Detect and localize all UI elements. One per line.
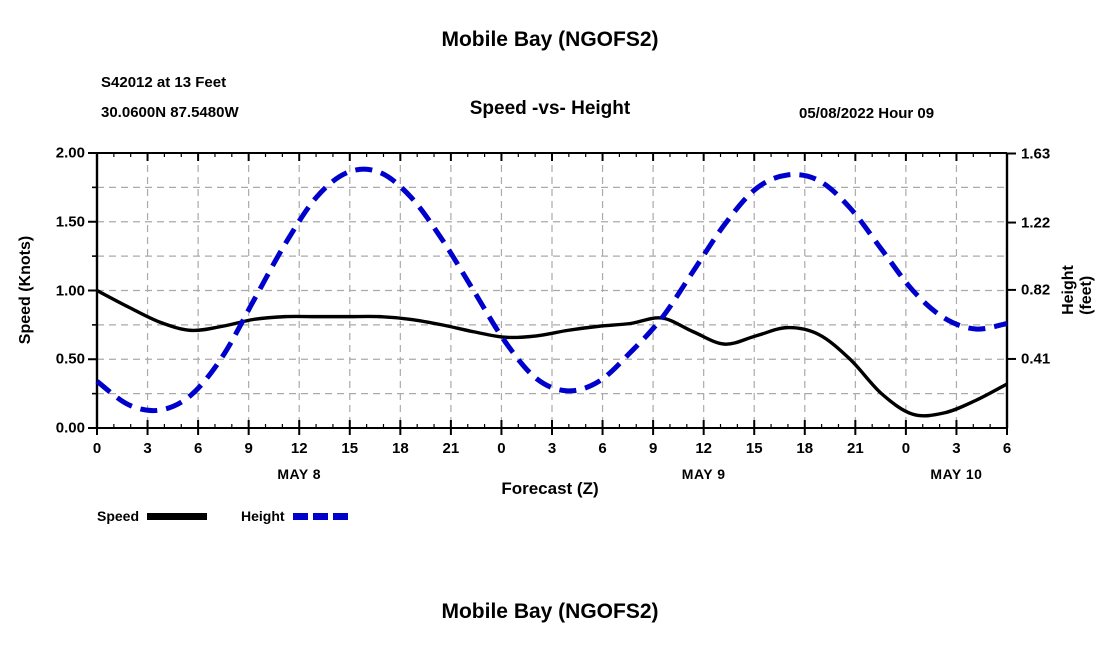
x-axis-tick-3: 9 (244, 440, 252, 457)
x-axis-tick-7: 21 (443, 440, 460, 457)
legend-swatch-height-icon (293, 513, 353, 520)
x-axis-tick-5: 15 (341, 440, 358, 457)
x-axis-tick-16: 0 (902, 440, 910, 457)
x-axis-tick-9: 3 (548, 440, 556, 457)
y-axis-left-tick-0.00: 0.00 (41, 420, 85, 437)
legend-label-height: Height (241, 508, 285, 524)
x-axis-title: Forecast (Z) (0, 479, 1100, 499)
y-axis-right-tick-0.82: 0.82 (1021, 281, 1050, 298)
x-axis-tick-0: 0 (93, 440, 101, 457)
x-axis-tick-12: 12 (695, 440, 712, 457)
x-axis-tick-8: 0 (497, 440, 505, 457)
x-axis-tick-10: 6 (598, 440, 606, 457)
x-axis-tick-17: 3 (952, 440, 960, 457)
chart-legend: Speed Height (97, 508, 353, 524)
x-axis-tick-6: 18 (392, 440, 409, 457)
plot-area (0, 0, 1100, 650)
x-axis-tick-4: 12 (291, 440, 308, 457)
chart-figure: Mobile Bay (NGOFS2) S42012 at 13 Feet 30… (0, 0, 1100, 650)
y-axis-left-title: Speed (Knots) (17, 236, 35, 344)
x-axis-tick-14: 18 (796, 440, 813, 457)
y-axis-left-tick-0.50: 0.50 (41, 351, 85, 368)
x-axis-tick-13: 15 (746, 440, 763, 457)
y-axis-left-tick-2.00: 2.00 (41, 145, 85, 162)
y-axis-right-tick-1.22: 1.22 (1021, 214, 1050, 231)
bottom-title: Mobile Bay (NGOFS2) (0, 600, 1100, 624)
y-axis-right-tick-0.41: 0.41 (1021, 350, 1050, 367)
legend-label-speed: Speed (97, 508, 139, 524)
x-axis-tick-18: 6 (1003, 440, 1011, 457)
x-axis-tick-1: 3 (143, 440, 151, 457)
legend-swatch-speed-icon (147, 513, 207, 520)
y-axis-right-tick-1.63: 1.63 (1021, 145, 1050, 162)
y-axis-right-title: Height (feet) (1060, 265, 1096, 315)
x-axis-tick-2: 6 (194, 440, 202, 457)
y-axis-left-tick-1.00: 1.00 (41, 282, 85, 299)
x-axis-tick-15: 21 (847, 440, 864, 457)
x-axis-tick-11: 9 (649, 440, 657, 457)
gridlines (97, 153, 1007, 428)
y-axis-left-tick-1.50: 1.50 (41, 213, 85, 230)
